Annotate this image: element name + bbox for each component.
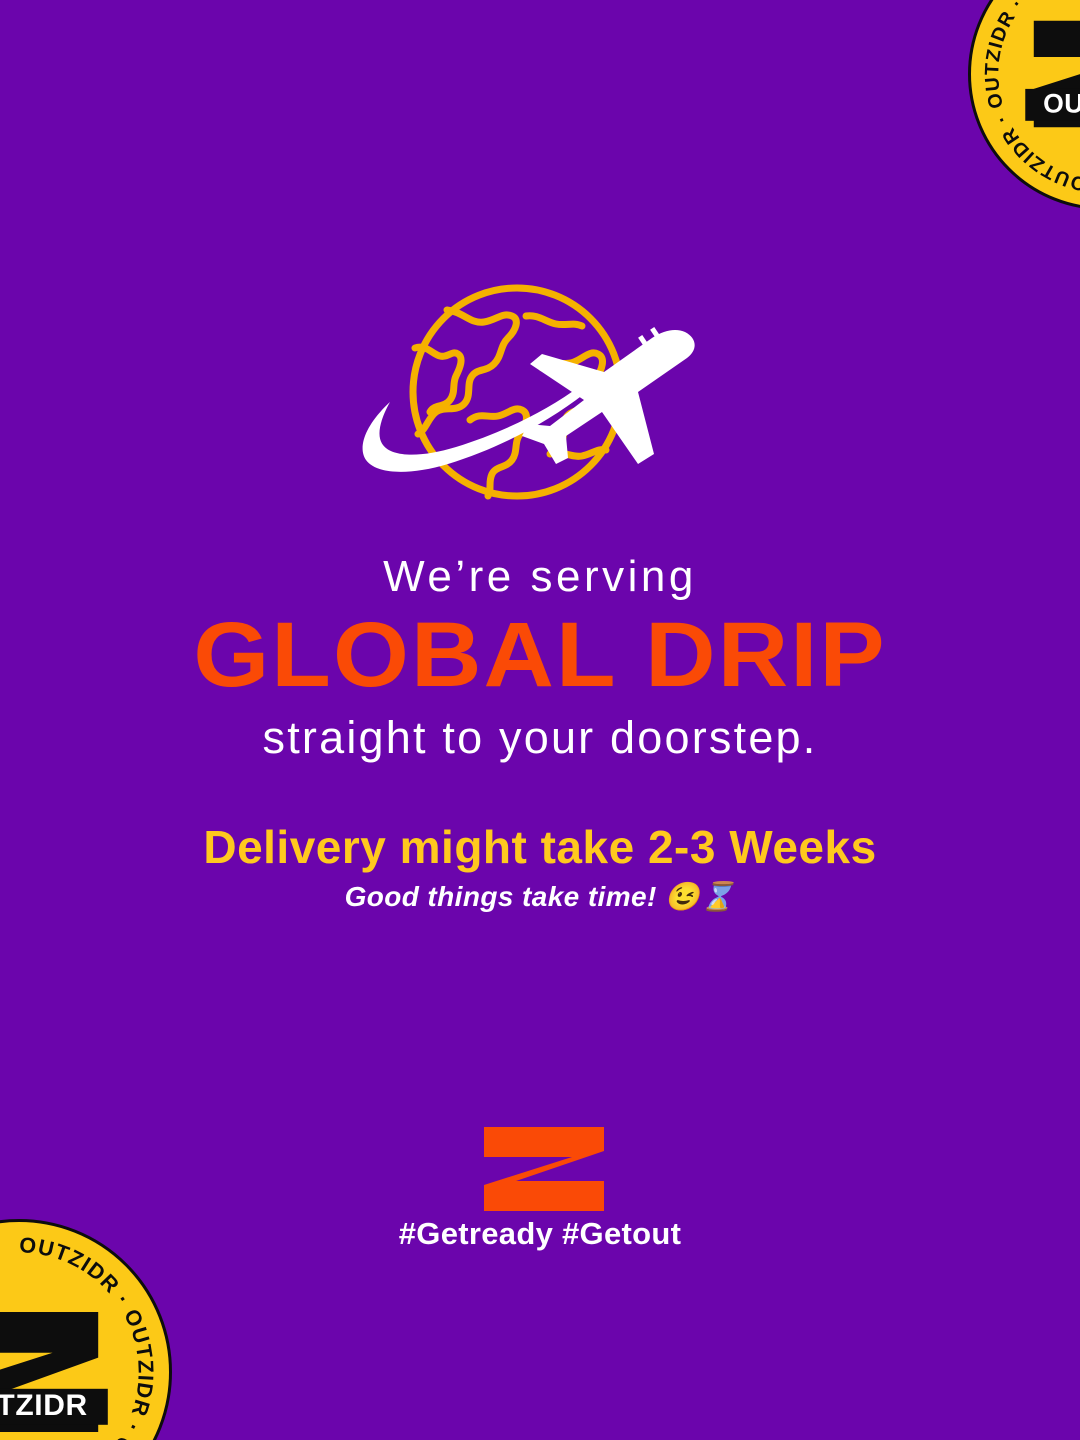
- headline-eyebrow: We’re serving: [0, 552, 1080, 602]
- headline-subline: straight to your doorstep.: [0, 712, 1080, 764]
- badge-top-right: OUTZIDR · OUTZIDR · OUTZIDR · OUTZIDR · …: [968, 0, 1080, 210]
- globe-airplane-illustration: [352, 272, 708, 512]
- badge-core-top-right: OUTZIDR: [1019, 5, 1080, 143]
- promo-poster: OUTZIDR · OUTZIDR · OUTZIDR · OUTZIDR · …: [0, 0, 1080, 1440]
- footer-hashtags: #Getready #Getout: [0, 1216, 1080, 1252]
- delivery-estimate-text: Delivery might take 2-3 Weeks: [0, 820, 1080, 874]
- badge-core-bottom-left: OUTZIDR: [0, 1294, 115, 1440]
- badge-label-top-right: OUTZIDR: [1043, 88, 1080, 118]
- page-title: GLOBAL DRIP: [0, 609, 1080, 701]
- badge-bottom-left: OUTZIDR · OUTZIDR · OUTZIDR · OUTZIDR · …: [0, 1219, 172, 1440]
- badge-label-bottom-left: OUTZIDR: [0, 1389, 88, 1422]
- brand-z-logo-icon: [482, 1125, 606, 1213]
- delivery-note-text: Good things take time! 😉⌛: [0, 880, 1080, 913]
